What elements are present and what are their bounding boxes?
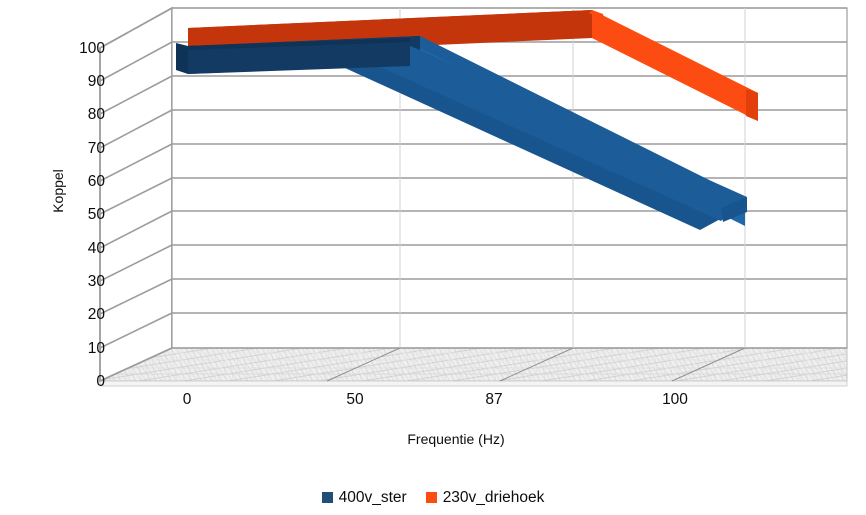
legend-item-230v_driehoek[interactable]: 230v_driehoek bbox=[426, 490, 545, 506]
y-axis-title: Koppel bbox=[50, 131, 66, 251]
chart-left-wall bbox=[100, 8, 172, 381]
y-tick-label: 90 bbox=[45, 74, 105, 90]
y-tick-label: 100 bbox=[45, 41, 105, 57]
x-tick-label: 87 bbox=[464, 392, 524, 408]
y-tick-label: 0 bbox=[45, 374, 105, 390]
x-tick-label: 0 bbox=[157, 392, 217, 408]
y-tick-label: 10 bbox=[45, 341, 105, 357]
legend-label: 400v_ster bbox=[339, 490, 407, 506]
legend-label: 230v_driehoek bbox=[443, 490, 545, 506]
chart-legend: 400v_ster 230v_driehoek bbox=[0, 490, 866, 506]
legend-swatch-orange bbox=[426, 492, 437, 503]
chart-floor bbox=[100, 348, 847, 386]
y-tick-label: 30 bbox=[45, 274, 105, 290]
x-tick-label: 50 bbox=[325, 392, 385, 408]
legend-swatch-blue bbox=[322, 492, 333, 503]
x-tick-label: 100 bbox=[645, 392, 705, 408]
legend-item-400v_ster[interactable]: 400v_ster bbox=[322, 490, 407, 506]
y-tick-label: 20 bbox=[45, 307, 105, 323]
chart-3d-line: 100 90 80 70 60 50 40 30 20 10 0 0 50 87… bbox=[0, 0, 866, 515]
x-axis-title: Frequentie (Hz) bbox=[306, 431, 606, 447]
y-tick-label: 80 bbox=[45, 107, 105, 123]
